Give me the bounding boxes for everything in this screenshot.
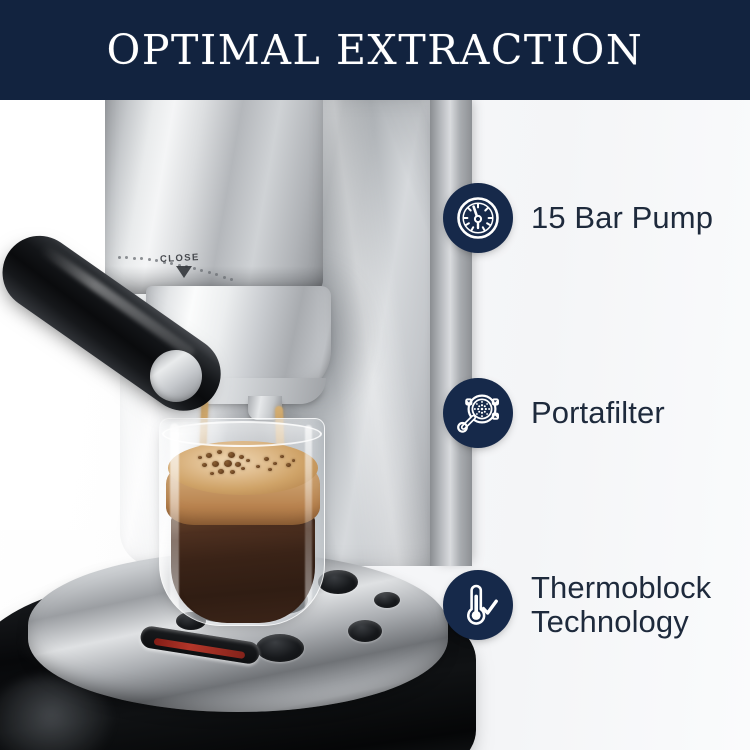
cup-rim <box>162 421 322 447</box>
drip-tray-hole <box>348 620 382 642</box>
crema-bubble <box>273 462 277 465</box>
dial-close-label: CLOSE <box>160 252 200 265</box>
feature-icon-badge <box>443 570 513 640</box>
dial-scale-dot <box>208 271 211 274</box>
dial-pointer-icon <box>176 266 192 278</box>
header-banner: OPTIMAL EXTRACTION <box>0 0 750 100</box>
espresso-glass-cup <box>159 418 325 626</box>
crema-bubble <box>198 456 202 459</box>
crema-bubble <box>206 453 212 458</box>
crema-bubble <box>218 469 224 474</box>
feature-label: Portafilter <box>531 395 665 430</box>
drip-tray-hole <box>374 592 400 608</box>
dial-scale-dot <box>125 256 128 259</box>
drip-tray-hole <box>256 634 304 662</box>
crema-surface <box>168 441 318 495</box>
cup-highlight-right <box>305 425 312 615</box>
dial-scale-dot <box>140 257 143 260</box>
dial-scale-dot <box>148 258 151 261</box>
crema-bubble <box>230 470 235 474</box>
dial-scale-dot <box>155 259 158 262</box>
dial-scale-dot <box>223 276 226 279</box>
crema-bubble <box>228 452 235 458</box>
page-title: OPTIMAL EXTRACTION <box>107 26 644 74</box>
crema-bubble <box>217 450 222 454</box>
crema-bubble <box>212 461 219 467</box>
feature-thermoblock-technology: Thermoblock Technology <box>443 570 711 640</box>
feature-icon-badge <box>443 183 513 253</box>
crema-bubble <box>256 465 260 468</box>
dial-scale-dot <box>118 256 121 259</box>
feature-icon-badge <box>443 378 513 448</box>
portafilter-icon <box>455 390 501 436</box>
feature-label: 15 Bar Pump <box>531 200 713 235</box>
feature-15-bar-pump: 15 Bar Pump <box>443 183 713 253</box>
machine-right-edge <box>430 100 472 566</box>
crema-bubble <box>239 455 244 459</box>
crema-bubble <box>246 459 250 462</box>
pressure-gauge-icon <box>455 195 501 241</box>
cup-highlight-left <box>170 423 179 619</box>
crema-bubble <box>280 455 284 458</box>
dial-scale-dot <box>200 269 203 272</box>
crema-bubble <box>286 463 291 467</box>
dial-scale-dot <box>133 257 136 260</box>
crema-bubble <box>235 462 241 467</box>
product-feature-graphic: OPTIMAL EXTRACTION CLOSE <box>0 0 750 750</box>
thermometer-check-icon <box>455 582 501 628</box>
crema-bubble <box>268 468 272 471</box>
crema-bubble <box>264 457 269 461</box>
crema-bubble <box>202 463 207 467</box>
feature-portafilter: Portafilter <box>443 378 665 448</box>
dial-scale-dot <box>230 278 233 281</box>
crema-bubble <box>224 460 232 467</box>
coffee-liquid <box>171 515 315 623</box>
dial-scale-dot <box>193 267 196 270</box>
dial-scale-dot <box>215 273 218 276</box>
crema-bubble <box>292 459 295 462</box>
feature-label: Thermoblock Technology <box>531 571 711 639</box>
crema-bubble <box>241 467 245 470</box>
crema-bubble <box>210 472 214 475</box>
